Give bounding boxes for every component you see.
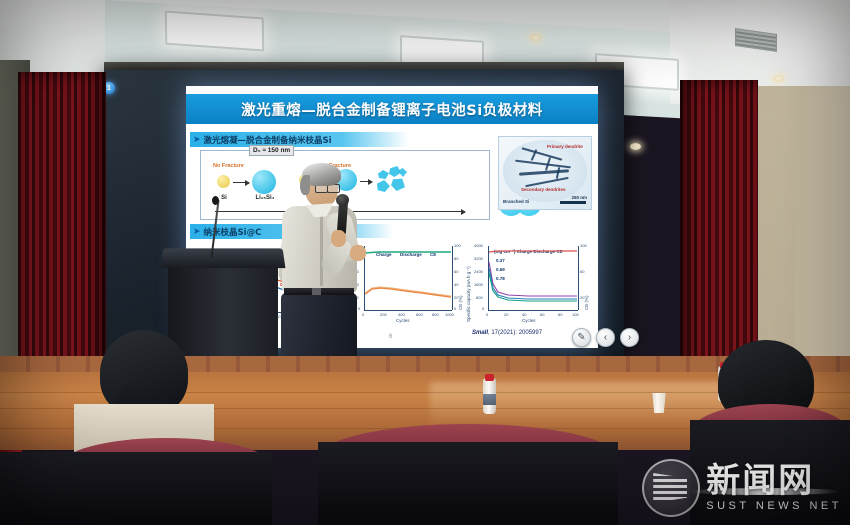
speaker-gesturing-hand xyxy=(350,245,366,261)
chart2-xtick-1: 200 xyxy=(380,312,387,317)
watermark-chinese-text: 新闻网 xyxy=(706,464,842,498)
citation-rest: , 17(2021): 2005997 xyxy=(488,330,542,336)
chart2-ylabel2: CE (%) xyxy=(458,296,463,311)
podium-top-surface xyxy=(161,248,286,268)
chart-mass-loading: Specific capacity (mA h g⁻¹) CE (%) 4000… xyxy=(464,238,590,328)
next-slide-button[interactable]: › xyxy=(620,328,639,347)
chart2-xtick-4: 800 xyxy=(432,312,439,317)
speaker-shirt-placket xyxy=(320,214,323,286)
slide-page-number: 6 xyxy=(389,334,392,340)
chart2-y2tick-5: 100 xyxy=(454,243,461,248)
chart3-xtick-2: 40 xyxy=(522,312,526,317)
seat-back-center xyxy=(318,442,618,525)
chart2-yaxis2 xyxy=(452,246,453,310)
chart3-ylabel2: CE (%) xyxy=(584,296,589,311)
chart2-xlabel: Cycles xyxy=(396,318,410,323)
chart3-y2tick-3: 60 xyxy=(580,269,584,274)
speaker-belt-buckle xyxy=(312,288,321,295)
chart3-y2tick-1: 20 xyxy=(580,295,584,300)
chart3-ytick-5: 4000 xyxy=(474,243,483,248)
chart2-xtick-0: 0 xyxy=(362,312,364,317)
chart2-xtick-3: 600 xyxy=(416,312,423,317)
chart2-xtick-5: 1000 xyxy=(445,312,454,317)
tem-secondary-dendrites-label: Secondary dendrites xyxy=(521,187,566,192)
chart3-ytick-4: 3200 xyxy=(474,256,483,261)
particle-size-label: D₀ ≈ 150 nm xyxy=(249,145,294,156)
seat-back-far-left xyxy=(0,452,70,525)
seal-emblem xyxy=(653,473,687,503)
chart3-xaxis xyxy=(488,310,578,311)
chart2-y2tick-1: 20 xyxy=(454,295,458,300)
slide-section-1: ➤ 激光熔凝—脱合金制备纳米枝晶Si xyxy=(190,132,408,147)
tem-scale-bar-label: 250 nm xyxy=(571,195,587,200)
chart3-ylabel: Specific capacity (mA h g⁻¹) xyxy=(466,266,472,322)
slide-section-1-label: 激光熔凝—脱合金制备纳米枝晶Si xyxy=(204,134,332,146)
slide-citation: Small, 17(2021): 2005997 xyxy=(472,330,542,336)
downlight-5 xyxy=(530,34,541,41)
chart3-xtick-1: 20 xyxy=(504,312,508,317)
indicator-led-label: 1 xyxy=(107,85,111,92)
presenter-nav-bar[interactable]: ✎ ‹ › xyxy=(572,328,639,347)
chart3-xlabel: Cycles xyxy=(522,318,536,323)
right-curtain xyxy=(680,80,758,380)
chevron-right-icon: › xyxy=(628,332,631,343)
gooseneck-microphone-head xyxy=(212,196,219,205)
water-bottle-label-center xyxy=(483,394,496,405)
chart2-y2tick-2: 40 xyxy=(454,282,458,287)
tem-sample-label: Branched Si xyxy=(503,199,529,204)
chart3-ytick-0: 0 xyxy=(482,306,484,311)
water-bottle-cap-center xyxy=(485,374,494,381)
chart3-ytick-1: 800 xyxy=(476,295,483,300)
chart2-xaxis xyxy=(364,310,452,311)
downlight-8 xyxy=(773,75,784,82)
fractured-particle xyxy=(376,166,410,196)
chart2-y2tick-4: 80 xyxy=(454,256,458,261)
university-seal-logo xyxy=(642,459,700,517)
pen-icon: ✎ xyxy=(577,332,585,343)
chart2-xtick-2: 400 xyxy=(398,312,405,317)
chart3-xtick-3: 60 xyxy=(540,312,544,317)
seat-back-left xyxy=(60,452,272,525)
chart3-series xyxy=(488,246,578,310)
microphone-head xyxy=(336,194,349,206)
lithiated-particle xyxy=(252,170,276,194)
watermark-english-text: SUST NEWS NET xyxy=(706,500,842,512)
speaker-sideburn xyxy=(300,175,310,195)
chart3-xtick-5: 100 xyxy=(572,312,579,317)
pen-icon-button[interactable]: ✎ xyxy=(572,328,591,347)
tem-scale-bar xyxy=(560,201,586,204)
left-curtain xyxy=(18,72,106,402)
arrow-3 xyxy=(360,181,372,182)
chart3-y2tick-5: 100 xyxy=(580,243,587,248)
watermark: 新闻网 SUST NEWS NET xyxy=(642,459,842,517)
chart2-y2tick-0: 0 xyxy=(454,306,456,311)
slide-title: 激光重熔—脱合金制备锂离子电池Si负极材料 xyxy=(186,94,598,124)
chevron-left-icon: ‹ xyxy=(604,332,607,343)
bullet-arrow-icon-2: ➤ xyxy=(193,227,201,237)
previous-slide-button[interactable]: ‹ xyxy=(596,328,615,347)
no-fracture-label: No Fracture xyxy=(213,163,244,169)
arrow-1 xyxy=(233,182,249,183)
tem-image: Primary dendrite Secondary dendrites Bra… xyxy=(498,136,592,210)
speaker-hand-holding-mic xyxy=(331,230,346,247)
chart3-xtick-4: 80 xyxy=(558,312,562,317)
caption-li15si4: Li₁₅Si₄ xyxy=(247,195,283,201)
citation-journal: Small xyxy=(472,330,488,336)
chart2-ytick-0: 0 xyxy=(358,306,360,311)
tem-primary-dendrite-label: Primary dendrite xyxy=(547,144,583,149)
chart3-yaxis2 xyxy=(578,246,579,310)
right-wall-panel xyxy=(795,86,850,386)
chart3-ytick-3: 2400 xyxy=(474,269,483,274)
si-particle-small xyxy=(217,175,230,188)
chart2-series xyxy=(364,246,452,310)
bullet-arrow-icon: ➤ xyxy=(193,135,201,145)
chart3-ytick-2: 1600 xyxy=(474,282,483,287)
chart2-y2tick-3: 60 xyxy=(454,269,458,274)
downlight-7 xyxy=(630,143,641,150)
lecture-hall-photo: 1 激光重熔—脱合金制备锂离子电池Si负极材料 ➤ 激光熔凝—脱合金制备纳米枝晶… xyxy=(0,0,850,525)
ceiling-panel-light-1 xyxy=(165,11,265,52)
chart3-xtick-0: 0 xyxy=(486,312,488,317)
